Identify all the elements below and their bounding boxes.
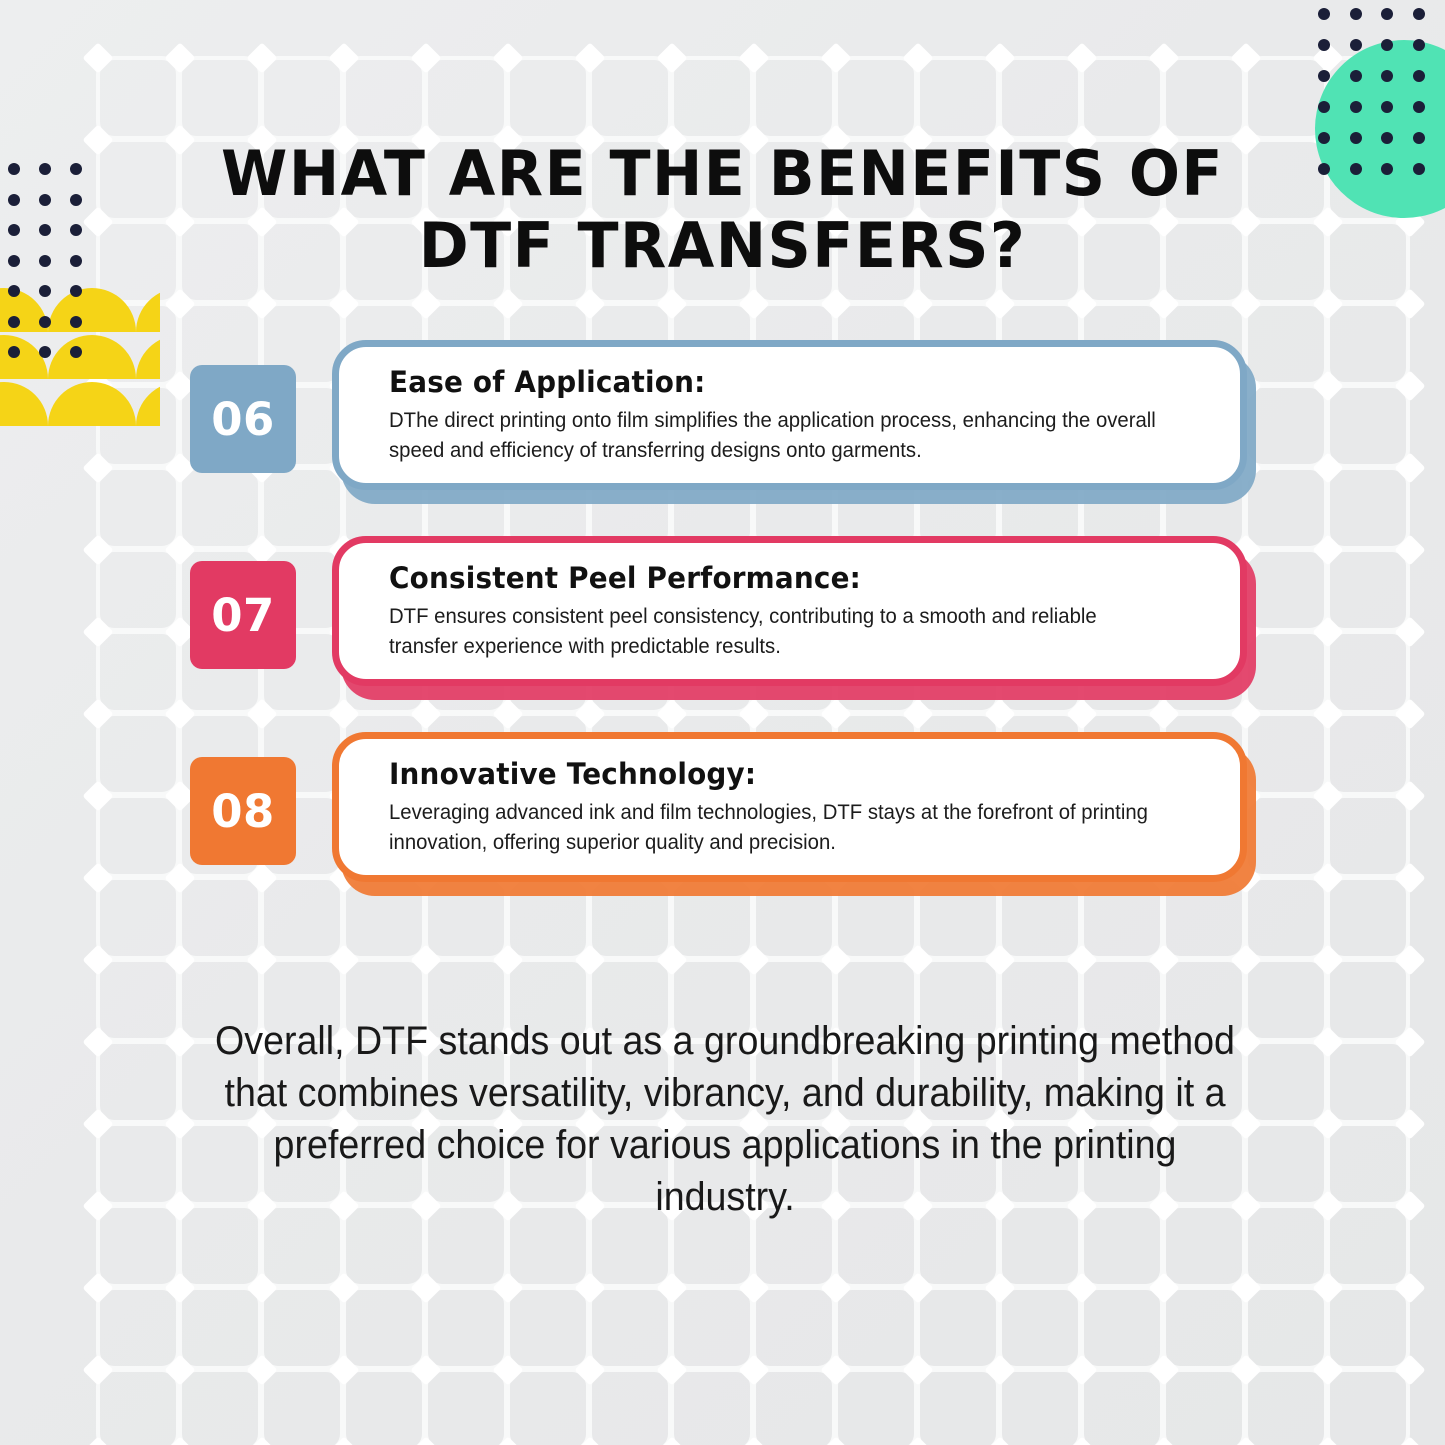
card-number-badge: 08 <box>190 757 296 865</box>
card-title: Innovative Technology: <box>389 757 1177 791</box>
card-panel: Consistent Peel Performance:DTF ensures … <box>332 536 1247 686</box>
benefit-card: 07Consistent Peel Performance:DTF ensure… <box>0 536 1445 686</box>
card-panel: Innovative Technology:Leveraging advance… <box>332 732 1247 882</box>
infographic-poster: WHAT ARE THE BENEFITS OF DTF TRANSFERS? … <box>0 0 1445 1445</box>
card-body-text: DThe direct printing onto film simplifie… <box>389 406 1165 465</box>
card-number-badge: 07 <box>190 561 296 669</box>
card-body-text: DTF ensures consistent peel consistency,… <box>389 602 1165 661</box>
card-number-badge: 06 <box>190 365 296 473</box>
card-title: Consistent Peel Performance: <box>389 561 1177 595</box>
benefit-card-list: 06Ease of Application:DThe direct printi… <box>0 340 1445 928</box>
card-title: Ease of Application: <box>389 365 1177 399</box>
card-panel: Ease of Application:DThe direct printing… <box>332 340 1247 490</box>
page-title: WHAT ARE THE BENEFITS OF DTF TRANSFERS? <box>167 138 1278 282</box>
benefit-card: 06Ease of Application:DThe direct printi… <box>0 340 1445 490</box>
benefit-card: 08Innovative Technology:Leveraging advan… <box>0 732 1445 882</box>
card-panel-wrapper: Ease of Application:DThe direct printing… <box>332 340 1247 490</box>
card-panel-wrapper: Innovative Technology:Leveraging advance… <box>332 732 1247 882</box>
card-body-text: Leveraging advanced ink and film technol… <box>389 798 1165 857</box>
teal-circle-decoration <box>1315 40 1445 218</box>
card-panel-wrapper: Consistent Peel Performance:DTF ensures … <box>332 536 1247 686</box>
summary-paragraph: Overall, DTF stands out as a groundbreak… <box>203 1015 1246 1223</box>
